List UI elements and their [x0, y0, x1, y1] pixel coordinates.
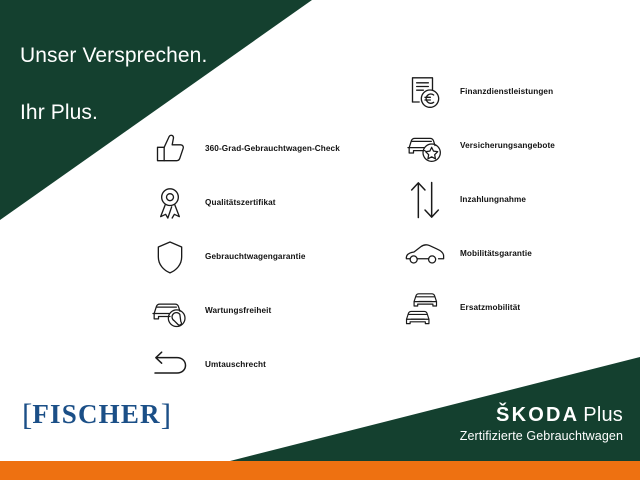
feature-label: Qualitätszertifikat: [205, 198, 276, 207]
car-wrench-icon: [143, 284, 197, 338]
promo-banner: Unser Versprechen. Ihr Plus. 360-Grad-Ge…: [0, 0, 640, 480]
feature-item: Gebrauchtwagengarantie: [143, 230, 373, 284]
brand-logo-tagline: Zertifizierte Gebrauchtwagen: [460, 430, 623, 443]
feature-item: Ersatzmobilität: [398, 281, 628, 335]
orange-footer-bar: [0, 461, 640, 480]
feature-list-right: Finanzdienstleistungen Versicherungsange…: [398, 65, 628, 335]
feature-item: Wartungsfreiheit: [143, 284, 373, 338]
dealer-logo-name: FISCHER: [32, 399, 160, 429]
car-side-icon: [398, 227, 452, 281]
document-euro-icon: [398, 65, 452, 119]
brand-logo[interactable]: ŠKODAPlus Zertifizierte Gebrauchtwagen: [460, 405, 623, 443]
feature-item: 360-Grad-Gebrauchtwagen-Check: [143, 122, 373, 176]
feature-label: Mobilitätsgarantie: [460, 249, 532, 258]
feature-item: Finanzdienstleistungen: [398, 65, 628, 119]
return-arrow-icon: [143, 338, 197, 392]
feature-item: Qualitätszertifikat: [143, 176, 373, 230]
feature-label: Finanzdienstleistungen: [460, 87, 553, 96]
brand-logo-mark: ŠKODA: [496, 404, 579, 426]
feature-item: Versicherungsangebote: [398, 119, 628, 173]
brand-logo-row: ŠKODAPlus: [460, 405, 623, 426]
feature-item: Umtauschrecht: [143, 338, 373, 392]
headline-line-1: Unser Versprechen.: [20, 42, 300, 70]
feature-label: Umtauschrecht: [205, 360, 266, 369]
feature-label: Gebrauchtwagengarantie: [205, 252, 305, 261]
shield-icon: [143, 230, 197, 284]
brand-logo-suffix: Plus: [583, 404, 623, 426]
dealer-logo[interactable]: [FISCHER]: [22, 399, 171, 430]
thumbs-up-icon: [143, 122, 197, 176]
two-cars-icon: [398, 281, 452, 335]
feature-label: Wartungsfreiheit: [205, 306, 271, 315]
feature-list-left: 360-Grad-Gebrauchtwagen-Check Qualitätsz…: [143, 122, 373, 392]
feature-label: 360-Grad-Gebrauchtwagen-Check: [205, 144, 340, 153]
feature-label: Ersatzmobilität: [460, 303, 520, 312]
feature-label: Inzahlungnahme: [460, 195, 526, 204]
up-down-arrows-icon: [398, 173, 452, 227]
feature-item: Mobilitätsgarantie: [398, 227, 628, 281]
feature-label: Versicherungsangebote: [460, 141, 555, 150]
award-rosette-icon: [143, 176, 197, 230]
dealer-logo-bracket-open: [: [22, 397, 32, 432]
feature-item: Inzahlungnahme: [398, 173, 628, 227]
dealer-logo-bracket-close: ]: [161, 397, 171, 432]
car-star-icon: [398, 119, 452, 173]
